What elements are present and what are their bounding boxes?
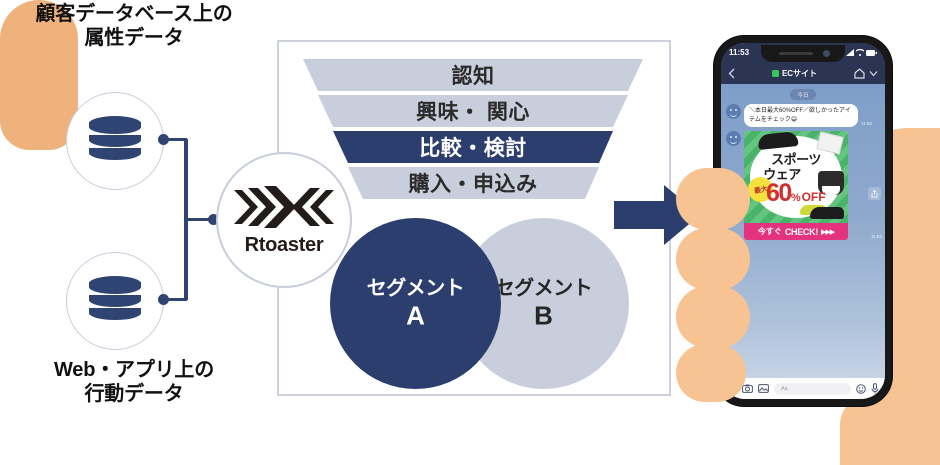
- hand-finger-3: [676, 286, 750, 348]
- date-separator: 今日: [790, 89, 816, 100]
- segment-a-text: セグメント A: [330, 276, 501, 331]
- funnel-stage-2[interactable]: 比較・検討: [303, 131, 643, 163]
- label-line-2: 属性データ: [0, 26, 270, 50]
- home-icon[interactable]: [854, 68, 865, 79]
- signal-icon: [846, 49, 854, 56]
- funnel-stage-label: 認知: [452, 60, 495, 90]
- segment-title: セグメント: [330, 276, 501, 300]
- hand-finger-2: [676, 228, 750, 290]
- segment-circle-a[interactable]: セグメント A: [330, 218, 501, 389]
- hand-finger-4: [676, 344, 746, 402]
- official-account-badge-icon: [772, 70, 779, 77]
- cta-arrows-icon: ▶▶▶: [821, 228, 834, 236]
- chat-thread[interactable]: 今日 ＼本日最大60%OFF／欲しかったアイテムをチェック😄 11:53: [721, 84, 885, 378]
- database-icon: [89, 116, 141, 166]
- share-glyph: [871, 190, 878, 198]
- funnel-stage-label: 比較・検討: [419, 132, 527, 162]
- hand-finger-1: [676, 168, 750, 230]
- emoji-icon[interactable]: [856, 384, 866, 394]
- ad-artwork: スポーツ ウェア 最大 60 % OFF: [744, 131, 848, 223]
- chat-input-bar: Aa: [721, 378, 885, 399]
- appbar-title: ECサイト: [782, 68, 817, 79]
- appbar-title-group: ECサイト: [735, 68, 854, 79]
- message-row-text: ＼本日最大60%OFF／欲しかったアイテムをチェック😄 11:53: [721, 104, 885, 131]
- message-bubble[interactable]: ＼本日最大60%OFF／欲しかったアイテムをチェック😄: [744, 104, 858, 127]
- chevron-down-icon[interactable]: [869, 70, 878, 77]
- wifi-icon: [856, 49, 864, 56]
- chevron-left-icon[interactable]: [728, 68, 735, 79]
- date-separator-label: 今日: [797, 91, 808, 99]
- label-web-app-behavior-data: Web・アプリ上の 行動データ: [0, 358, 270, 407]
- database-icon: [89, 276, 141, 326]
- label-line-2: 行動データ: [0, 382, 270, 406]
- chevron-converging-icon: [232, 184, 336, 230]
- ad-discount-percent: %: [791, 192, 801, 204]
- battery-icon: [866, 50, 877, 56]
- message-input-placeholder: Aa: [781, 386, 788, 392]
- phone-notch: [761, 45, 845, 62]
- image-icon[interactable]: [758, 384, 769, 393]
- infographic-canvas: 顧客データベース上の 属性データ Web・アプリ上の 行動データ: [0, 0, 940, 454]
- ad-card[interactable]: スポーツ ウェア 最大 60 % OFF 今: [744, 131, 848, 240]
- label-customer-attribute-data: 顧客データベース上の 属性データ: [0, 2, 270, 51]
- status-clock: 11:53: [729, 48, 749, 57]
- message-input[interactable]: Aa: [774, 383, 851, 395]
- phone-screen: 11:53: [721, 43, 885, 399]
- db-node-customer-attributes: [66, 92, 164, 190]
- shoe-icon-black: [810, 207, 844, 219]
- label-line-1: 顧客データベース上の: [0, 2, 270, 26]
- db-node-behavior: [66, 252, 164, 350]
- ad-cta-button[interactable]: 今すぐ CHECK! ▶▶▶: [744, 223, 848, 240]
- funnel-stage-1[interactable]: 興味・ 関心: [303, 95, 643, 127]
- microphone-icon[interactable]: [871, 383, 879, 394]
- ad-discount-off: OFF: [802, 190, 826, 204]
- avatar: [726, 104, 741, 119]
- rtoaster-badge: Rtoaster: [216, 152, 352, 288]
- connector-line: [186, 218, 212, 222]
- funnel-stage-0[interactable]: 認知: [303, 59, 643, 91]
- funnel-stage-label: 購入・申込み: [409, 168, 538, 198]
- ad-discount: 60 % OFF: [766, 181, 826, 206]
- rtoaster-wordmark: Rtoaster: [218, 234, 350, 257]
- purchase-funnel: 認知 興味・ 関心 比較・検討 購入・申込み: [303, 59, 643, 199]
- card-timestamp: 11:53: [871, 234, 882, 239]
- cta-label-jp: 今すぐ: [758, 226, 782, 237]
- funnel-stage-3[interactable]: 購入・申込み: [303, 167, 643, 199]
- label-line-1: Web・アプリ上の: [0, 358, 270, 382]
- message-timestamp: 11:53: [861, 121, 872, 126]
- status-indicators: [846, 49, 877, 56]
- segment-letter: A: [330, 300, 501, 331]
- cta-label-en: CHECK!: [785, 227, 818, 237]
- share-icon[interactable]: [868, 187, 881, 200]
- phone-appbar: ECサイト: [721, 62, 885, 84]
- ad-discount-number: 60: [766, 181, 791, 206]
- funnel-stage-label: 興味・ 関心: [416, 96, 530, 126]
- avatar: [726, 131, 741, 146]
- camera-icon[interactable]: [742, 384, 753, 393]
